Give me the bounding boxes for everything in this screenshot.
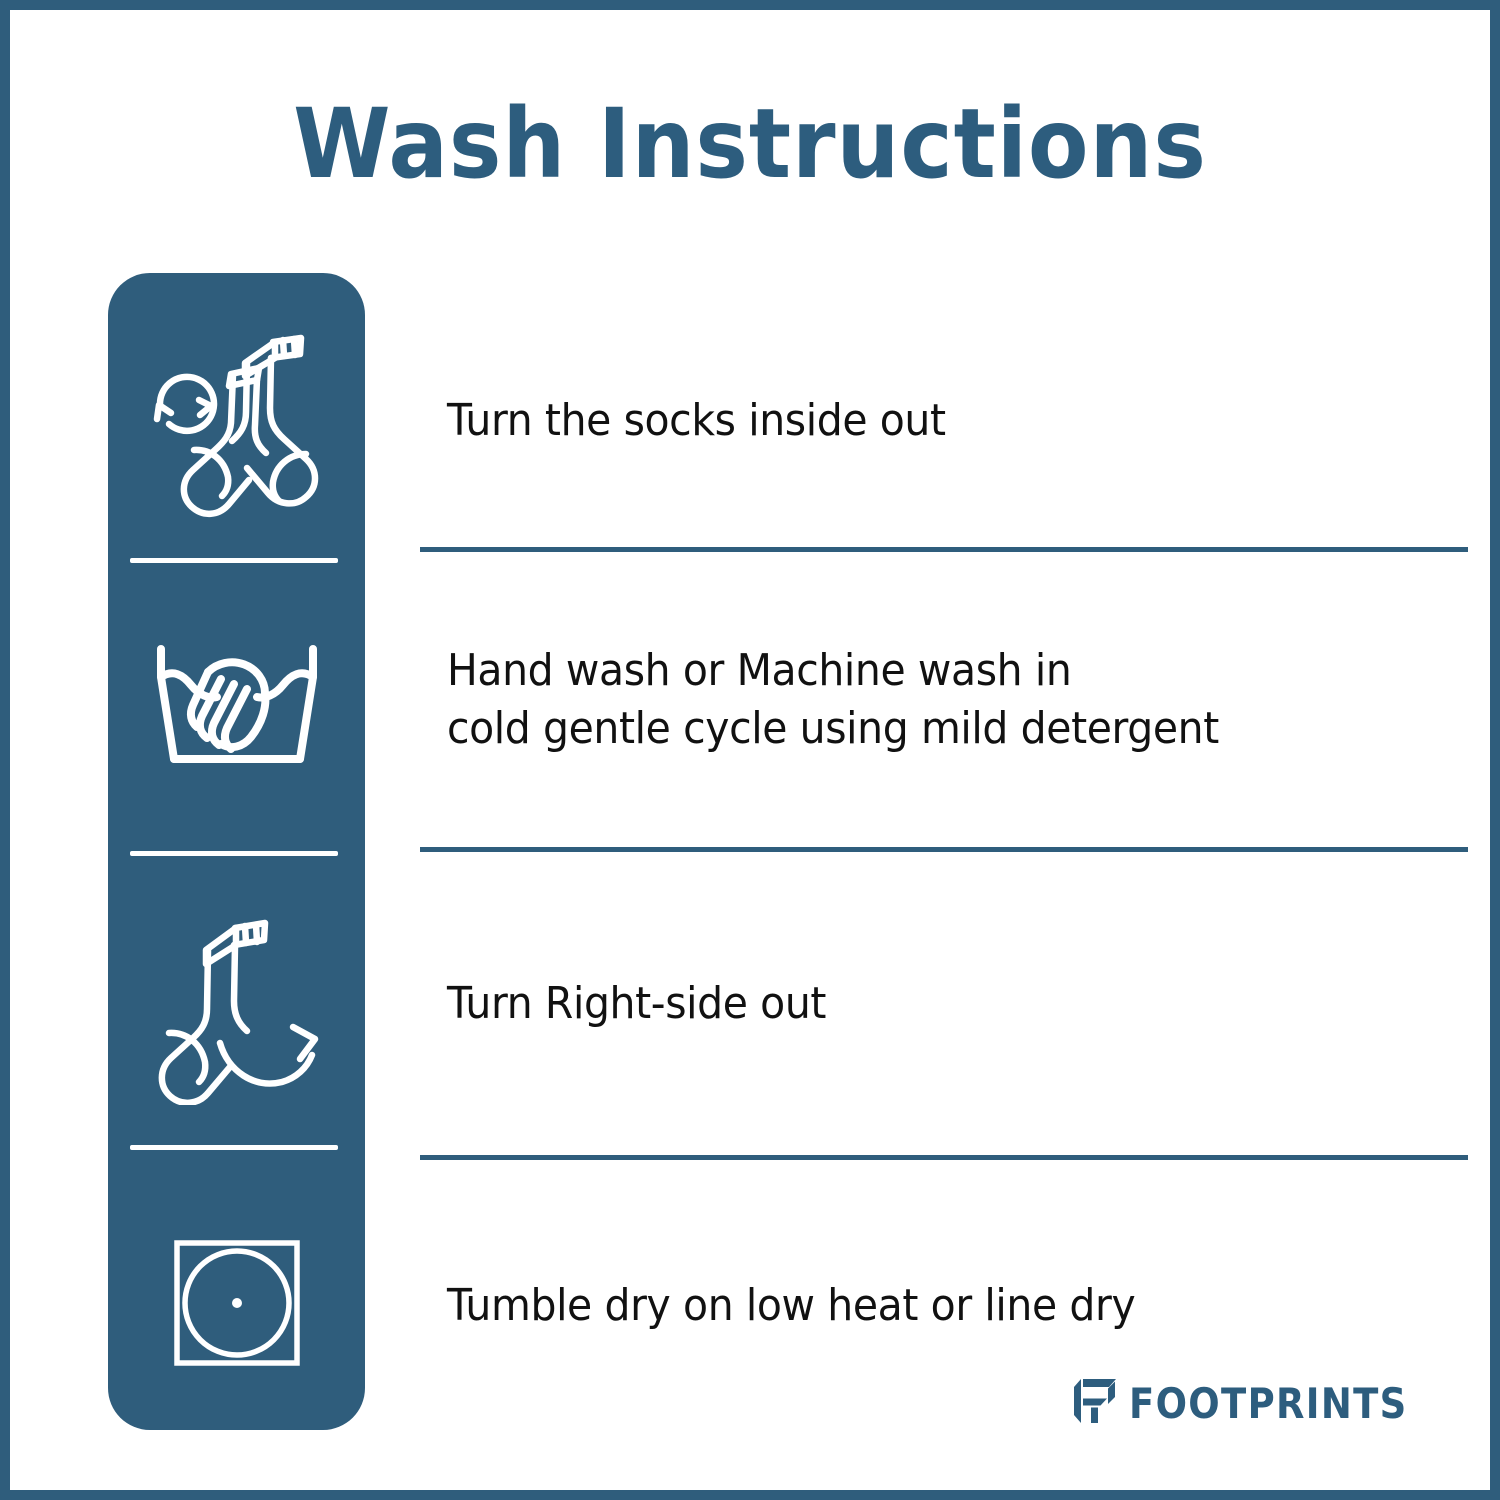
sock-turn-right-side-out-icon (142, 915, 332, 1105)
page-title: Wash Instructions (69, 88, 1431, 200)
icon-cell-3 (108, 885, 365, 1135)
footprints-f-mark-icon (1074, 1379, 1116, 1428)
instruction-line: Turn the socks inside out (447, 392, 1380, 450)
wash-instructions-card: Wash Instructions (0, 0, 1500, 1500)
icon-cell-1 (108, 291, 365, 561)
instruction-text-3: Turn Right-side out (447, 975, 1380, 1033)
text-divider-3 (420, 1155, 1468, 1160)
instruction-line: cold gentle cycle using mild detergent (447, 700, 1380, 758)
instruction-line: Hand wash or Machine wash in (447, 642, 1380, 700)
brand-name: FOOTPRINTS (1129, 1379, 1408, 1428)
instruction-text-4: Tumble dry on low heat or line dry (447, 1277, 1380, 1335)
hand-wash-basin-icon (147, 631, 327, 801)
rail-divider-3 (130, 1145, 338, 1150)
icon-cell-4 (108, 1178, 365, 1428)
icon-rail (108, 273, 365, 1430)
rail-divider-1 (130, 558, 338, 563)
socks-turn-inside-out-icon (137, 326, 337, 526)
rail-divider-2 (130, 851, 338, 856)
icon-cell-2 (108, 591, 365, 841)
instruction-text-2: Hand wash or Machine wash in cold gentle… (447, 642, 1380, 758)
text-divider-2 (420, 847, 1468, 852)
text-divider-1 (420, 547, 1468, 552)
tumble-dry-low-heat-icon (173, 1239, 301, 1367)
instruction-text-1: Turn the socks inside out (447, 392, 1380, 450)
instruction-line: Turn Right-side out (447, 975, 1380, 1033)
footprints-logo: FOOTPRINTS (1074, 1379, 1446, 1428)
instruction-line: Tumble dry on low heat or line dry (447, 1277, 1380, 1335)
